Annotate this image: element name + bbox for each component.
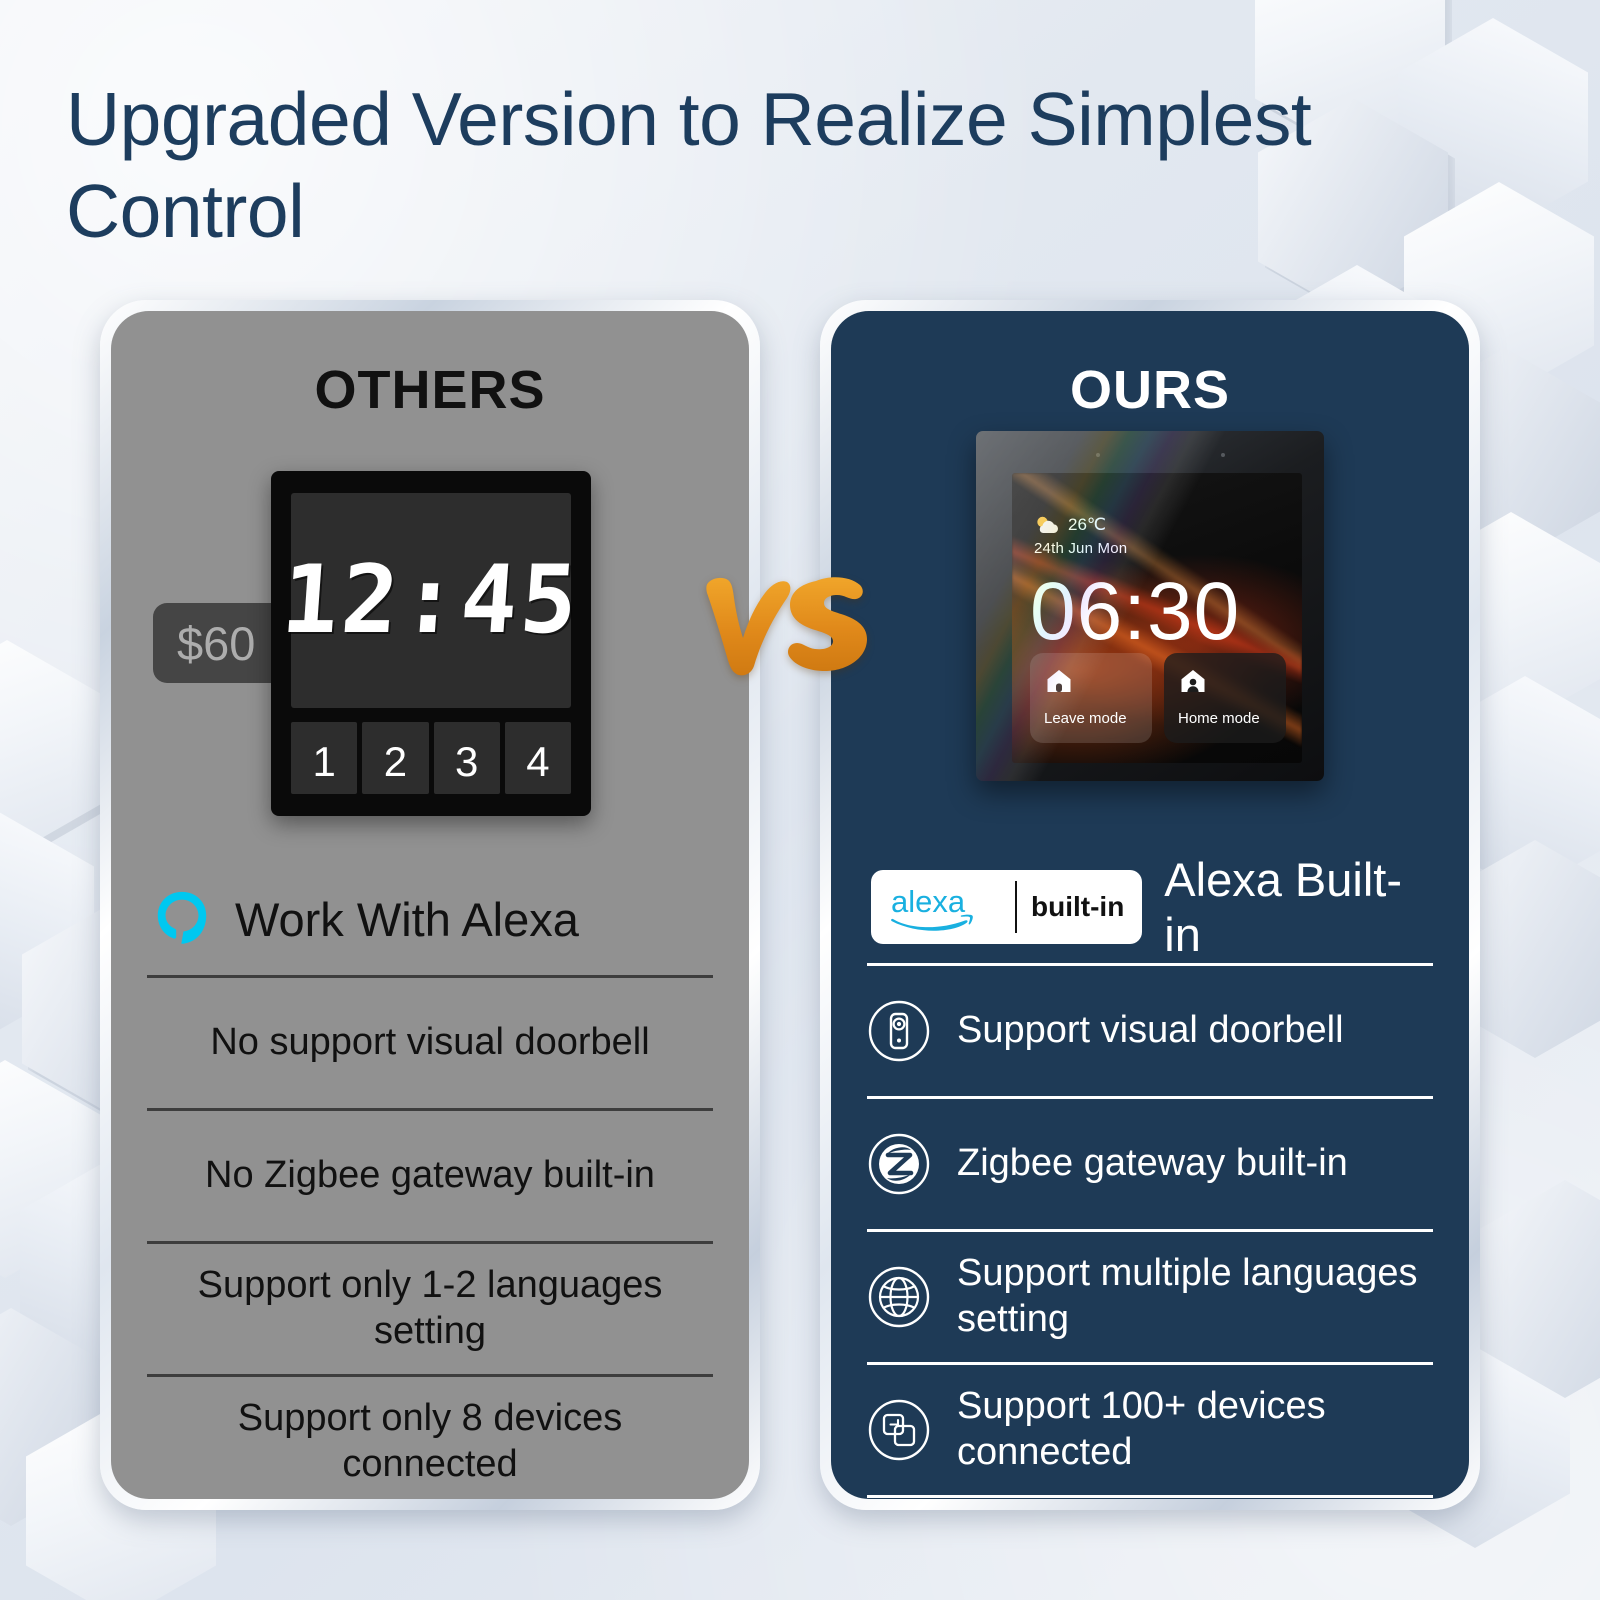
feature-row: Zigbee gateway built-in	[867, 1096, 1433, 1229]
alexa-built-in-label: Alexa Built-in	[1164, 852, 1429, 962]
built-in-label: built-in	[1031, 891, 1124, 923]
zigbee-icon	[867, 1132, 931, 1196]
mode-buttons: Leave mode Home mode	[1030, 653, 1286, 743]
lcd-key[interactable]: 1	[291, 722, 357, 794]
weather-widget: 26℃ 24th Jun Mon	[1034, 515, 1127, 557]
comparison-panel-ours: OURS 26℃ 24th Jun Mo	[820, 300, 1480, 1510]
lcd-screen: 12:45	[291, 493, 571, 708]
sensor-dot-icon	[1096, 453, 1100, 457]
feature-row: Support only 8 devices connected	[147, 1374, 713, 1499]
page-title: Upgraded Version to Realize Simplest Con…	[66, 74, 1366, 257]
alexa-logo-text: alexa	[891, 884, 966, 919]
home-mode-button[interactable]: Home mode	[1164, 653, 1286, 743]
globe-icon	[867, 1265, 931, 1329]
badge-divider	[1015, 881, 1017, 933]
feature-row: Support only 1-2 languages setting	[147, 1241, 713, 1374]
feature-row: Multiple themes to choose from	[867, 1495, 1433, 1499]
feature-row: Support 100+ devices connected	[867, 1362, 1433, 1495]
panel-heading-others: OTHERS	[111, 359, 749, 421]
feature-text: No Zigbee gateway built-in	[205, 1153, 655, 1199]
house-person-icon	[1178, 667, 1208, 695]
sensor-dot-icon	[1221, 453, 1225, 457]
sun-cloud-icon	[1034, 515, 1060, 535]
leave-mode-label: Leave mode	[1044, 710, 1152, 727]
feature-row: Support visual doorbell	[867, 963, 1433, 1096]
smart-panel-time: 06:30	[1030, 565, 1240, 659]
devices-stack-icon	[867, 1398, 931, 1462]
weather-temp: 26℃	[1068, 515, 1106, 535]
alexa-logo-icon: alexa	[889, 882, 1001, 932]
lcd-key[interactable]: 4	[505, 722, 571, 794]
alexa-ring-icon	[151, 888, 213, 950]
feature-text: Support only 8 devices connected	[147, 1396, 713, 1487]
feature-text: Support visual doorbell	[957, 1008, 1344, 1054]
feature-text: Support 100+ devices connected	[957, 1384, 1433, 1475]
feature-text: Support only 1-2 languages setting	[147, 1263, 713, 1354]
feature-text: Support multiple languages setting	[957, 1251, 1433, 1342]
alexa-wordmark: alexa	[889, 882, 1001, 932]
price-badge-label: $60	[177, 616, 255, 671]
works-with-alexa-row: Work With Alexa	[111, 869, 749, 969]
leave-mode-button[interactable]: Leave mode	[1030, 653, 1152, 743]
others-device: $60 12:45 1 2 3 4	[111, 443, 749, 843]
comparison-panel-others: OTHERS $60 12:45 1 2 3 4 Work	[100, 300, 760, 1510]
doorbell-camera-icon	[867, 999, 931, 1063]
weather-date: 24th Jun Mon	[1034, 540, 1127, 557]
ours-device: 26℃ 24th Jun Mon 06:30 Leave mode	[831, 431, 1469, 831]
panel-heading-ours: OURS	[831, 359, 1469, 421]
house-icon	[1044, 667, 1074, 695]
others-feature-list: No support visual doorbell No Zigbee gat…	[111, 975, 749, 1499]
lcd-key[interactable]: 3	[434, 722, 500, 794]
ours-feature-list: Support visual doorbell Zigbee gateway b…	[831, 963, 1469, 1499]
lcd-keypad: 1 2 3 4	[291, 722, 571, 794]
lcd-key[interactable]: 2	[362, 722, 428, 794]
feature-text: Zigbee gateway built-in	[957, 1141, 1348, 1187]
home-mode-label: Home mode	[1178, 710, 1286, 727]
feature-row: Support multiple languages setting	[867, 1229, 1433, 1362]
lcd-time: 12:45	[278, 546, 584, 655]
alexa-built-in-badge: alexa built-in	[871, 870, 1142, 944]
versus-icon	[698, 565, 888, 695]
feature-row: No Zigbee gateway built-in	[147, 1108, 713, 1241]
smart-panel-device: 26℃ 24th Jun Mon 06:30 Leave mode	[976, 431, 1324, 781]
versus-badge	[698, 565, 888, 695]
smart-panel-screen: 26℃ 24th Jun Mon 06:30 Leave mode	[1012, 473, 1302, 763]
lcd-switch-device: 12:45 1 2 3 4	[271, 471, 591, 816]
works-with-alexa-label: Work With Alexa	[235, 892, 579, 947]
feature-row: No support visual doorbell	[147, 975, 713, 1108]
feature-text: No support visual doorbell	[210, 1020, 649, 1066]
alexa-built-in-row: alexa built-in Alexa Built-in	[831, 857, 1469, 957]
